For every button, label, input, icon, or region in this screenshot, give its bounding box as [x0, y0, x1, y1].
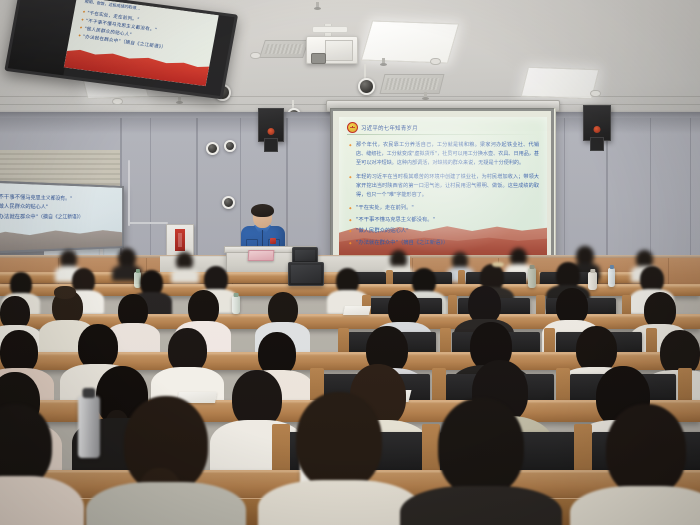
ceiling-air-vent [259, 40, 309, 58]
sprinkler-head-icon [316, 2, 319, 9]
hair-bun [54, 286, 76, 299]
wall-speaker-right [583, 105, 611, 141]
hair-clip-icon [492, 262, 504, 267]
podium-name-card [248, 250, 275, 261]
water-bottle[interactable] [608, 268, 615, 287]
presenter-badge [270, 238, 276, 244]
thermos-bottle[interactable] [588, 272, 597, 290]
wall-camera-icon [206, 142, 219, 155]
side-screen-line: "办法就在群众中"（摘自《之江新语》） [0, 213, 115, 223]
side-screen-line: "做人民群众的贴心人" [0, 203, 115, 213]
wall-conduit [128, 222, 168, 224]
thermos-bottle[interactable] [528, 268, 536, 288]
projector-arm [312, 26, 348, 33]
lecture-hall-photo: 照明、做饭，这些成绩的取得… "干在实处，走在前列。" "不干事不懂马克思主义都… [0, 0, 700, 525]
notebook[interactable] [343, 306, 371, 315]
water-bottle[interactable] [232, 296, 240, 314]
sprinkler-head-icon [382, 58, 385, 65]
wall-speaker-left [258, 108, 284, 142]
ceiling-air-vent [380, 74, 445, 94]
wall-camera-icon [222, 196, 235, 209]
smoke-detector-icon [250, 52, 261, 59]
smoke-detector-icon [112, 98, 123, 105]
fire-hose-cabinet[interactable] [166, 224, 194, 256]
sprinkler-head-icon [424, 92, 427, 99]
wall-conduit [128, 160, 130, 226]
projector-lens-icon [311, 53, 326, 64]
ceiling-camera-icon [358, 78, 375, 95]
ceiling-light-panel [361, 20, 460, 63]
presenter-hair [251, 204, 274, 217]
attendee-laptop[interactable] [288, 262, 324, 286]
projection-screen: 习近平的七年知青岁月 那个年代，农民靠工分养活自己，工分就是钱和粮。梁家河办起铁… [330, 108, 556, 262]
smoke-detector-icon [430, 58, 441, 65]
wall-camera-icon [224, 140, 236, 152]
ceiling-projector [306, 36, 358, 64]
presentation-slide: 习近平的七年知青岁月 那个年代，农民靠工分养活自己，工分就是钱和粮。梁家河办起铁… [339, 117, 547, 255]
sprinkler-head-icon [178, 96, 181, 103]
thermos-bottle[interactable] [78, 396, 100, 458]
smoke-detector-icon [590, 90, 601, 97]
side-wall-display: "不干事不懂马克思主义都没有。" "做人民群众的贴心人" "办法就在群众中"（摘… [0, 180, 124, 254]
ceiling-light-panel [521, 67, 600, 100]
